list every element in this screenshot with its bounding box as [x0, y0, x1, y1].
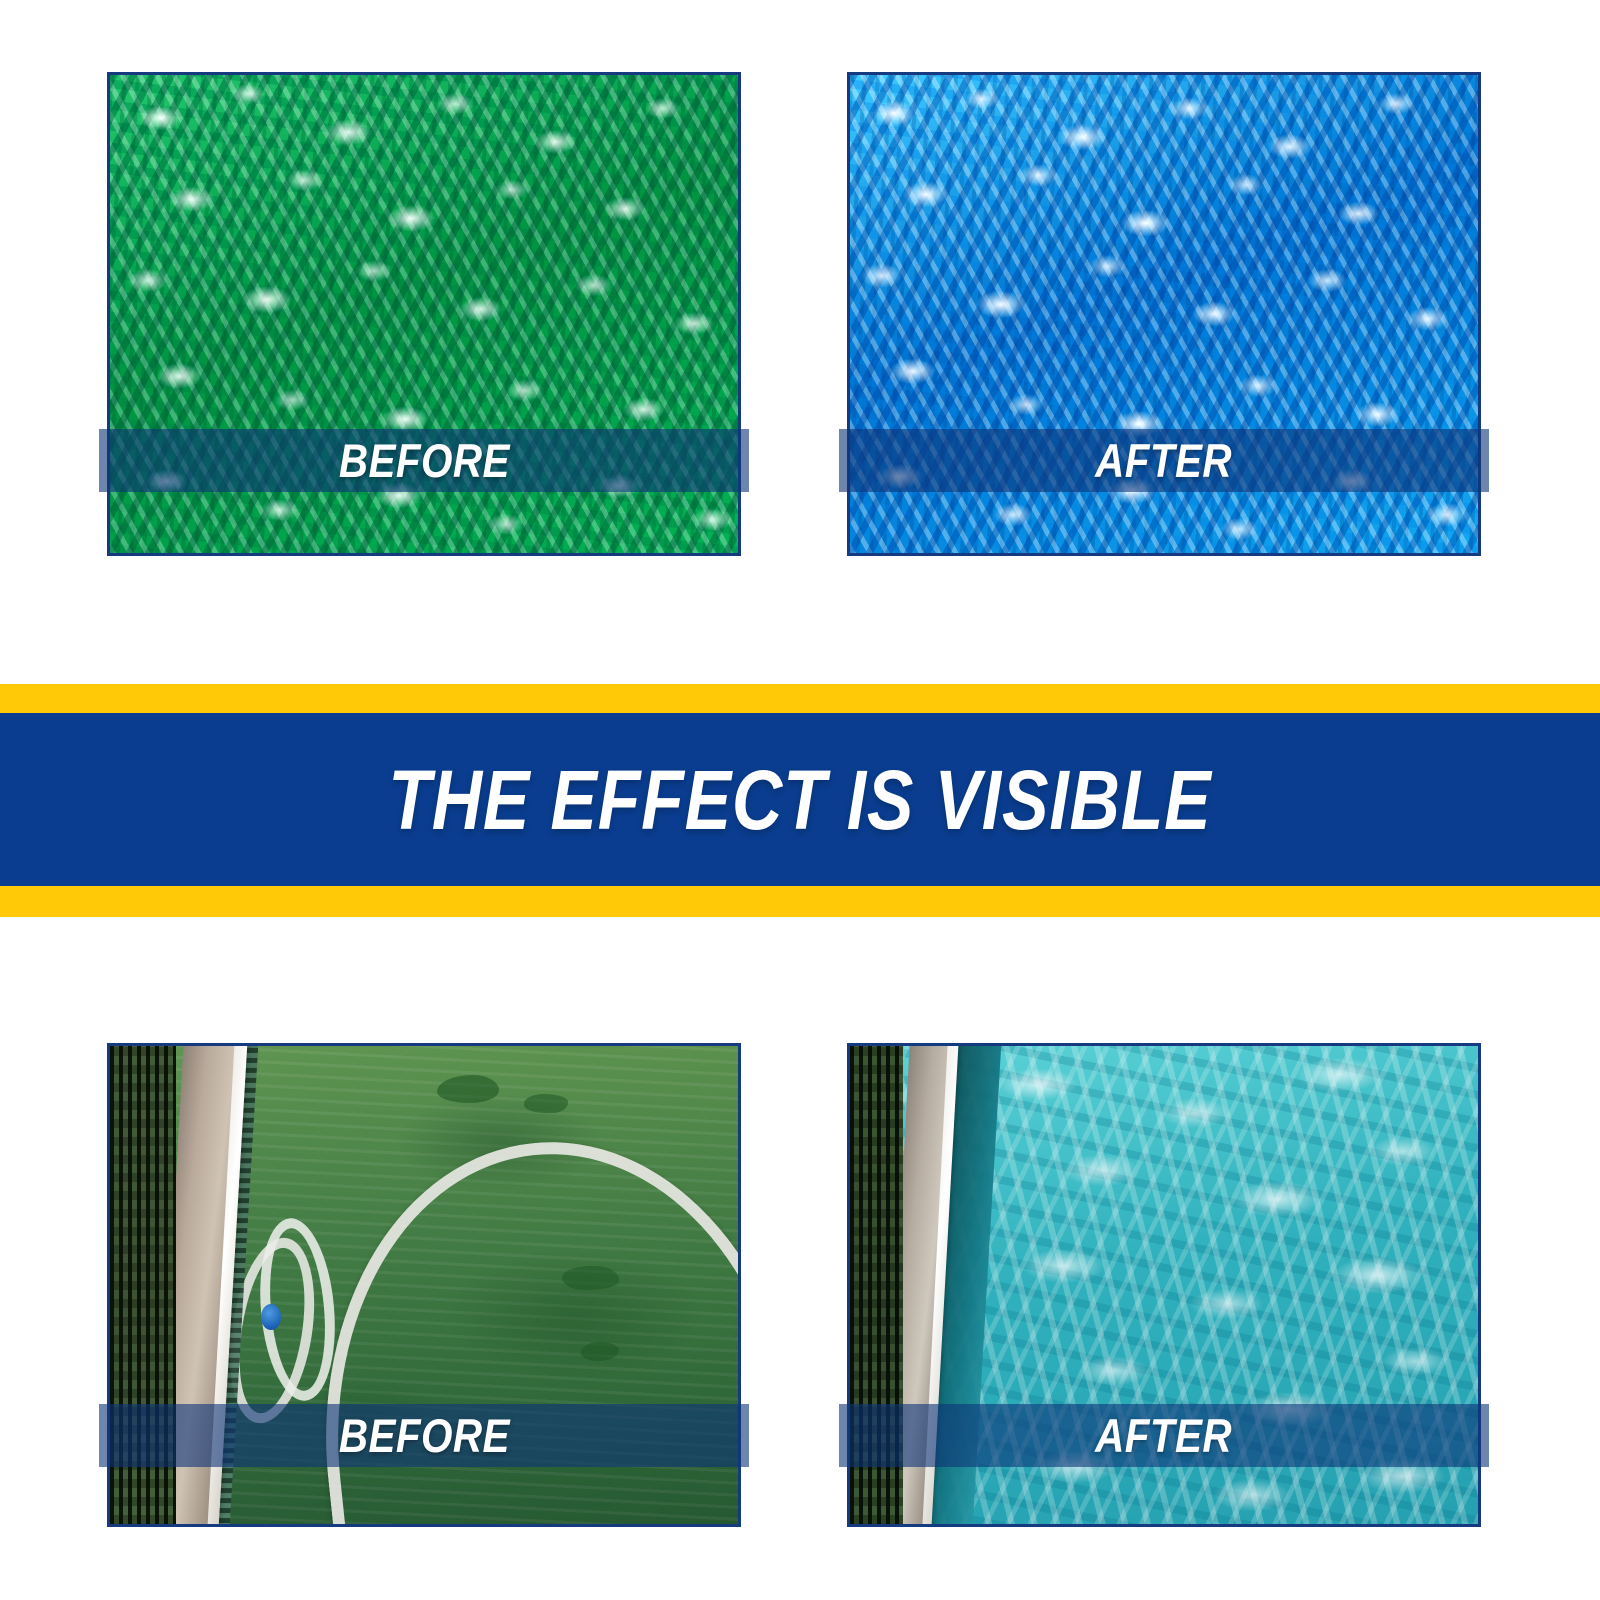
algae-patch: [524, 1094, 568, 1113]
center-banner: THE EFFECT IS VISIBLE: [0, 684, 1600, 917]
banner-stripe-top: [0, 684, 1600, 713]
after-photo-bottom: [847, 1043, 1481, 1527]
after-photo-top: [847, 72, 1481, 556]
green-pool-photo-icon: [110, 1046, 738, 1524]
clear-pool-photo-icon: [850, 1046, 1478, 1524]
banner-stripe-bottom: [0, 886, 1600, 917]
pool-vacuum-head: [261, 1304, 281, 1330]
banner-title: THE EFFECT IS VISIBLE: [388, 758, 1211, 842]
banner-bar: THE EFFECT IS VISIBLE: [0, 713, 1600, 886]
blue-water-texture-icon: [850, 75, 1478, 553]
green-water-texture-icon: [110, 75, 738, 553]
before-photo-top: [107, 72, 741, 556]
fence: [110, 1046, 176, 1524]
algae-patch: [437, 1075, 500, 1104]
pool-vacuum-hose: [296, 1118, 738, 1524]
fence: [850, 1046, 903, 1524]
before-photo-bottom: [107, 1043, 741, 1527]
